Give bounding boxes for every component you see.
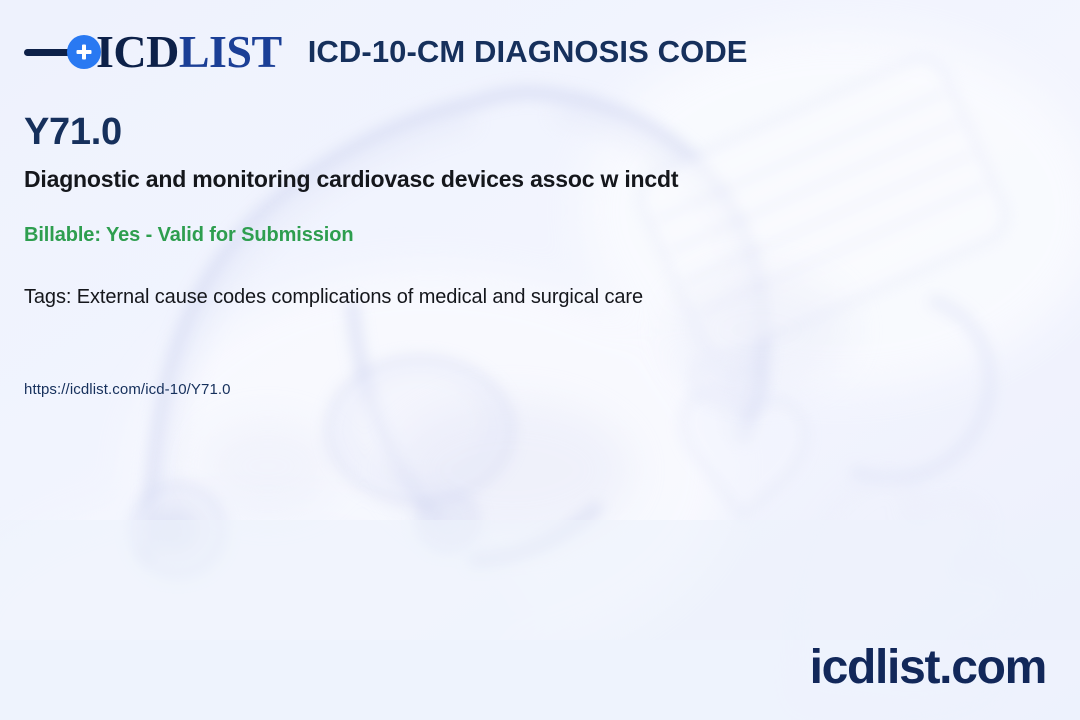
source-url[interactable]: https://icdlist.com/icd-10/Y71.0: [24, 381, 231, 398]
billable-status: Billable: Yes - Valid for Submission: [24, 224, 353, 247]
page-header: ICDLIST ICD-10-CM DIAGNOSIS CODE: [24, 24, 748, 80]
page-title: ICD-10-CM DIAGNOSIS CODE: [308, 34, 748, 70]
logo-wordmark-icd: ICD: [96, 26, 179, 77]
plus-horizontal-stroke: [77, 50, 92, 54]
tags-line: Tags: External cause codes complications…: [24, 286, 643, 309]
diagnosis-description: Diagnostic and monitoring cardiovasc dev…: [24, 166, 678, 194]
logo-wordmark: ICDLIST: [96, 29, 282, 75]
icd-code-card: ICDLIST ICD-10-CM DIAGNOSIS CODE Y71.0 D…: [0, 0, 1080, 720]
footer-brand: icdlist.com: [810, 644, 1046, 692]
plus-circle-icon: [67, 35, 101, 69]
logo-wordmark-list: LIST: [179, 26, 282, 77]
background-watermark-image: [0, 0, 1080, 720]
icdlist-logo[interactable]: ICDLIST: [24, 24, 282, 80]
diagnosis-code: Y71.0: [24, 112, 122, 154]
